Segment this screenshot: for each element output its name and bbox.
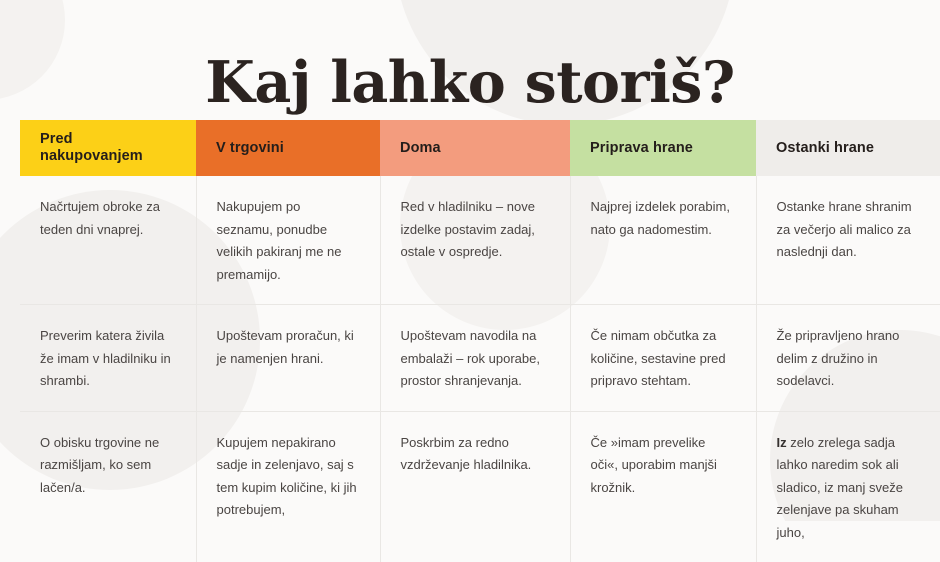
cell-r1-v-trgovini: Nakupujem po seznamu, ponudbe velikih pa… <box>196 176 380 305</box>
cell-r1-priprava-hrane: Najprej izdelek porabim, nato ga nadomes… <box>570 176 756 305</box>
cell-r3-doma: Poskrbim za redno vzdrževanje hladilnika… <box>380 411 570 562</box>
table-row: Preverim katera živila že imam v hladiln… <box>20 305 940 412</box>
column-header-priprava-hrane: Priprava hrane <box>570 120 756 176</box>
cell-r3-ostanki-hrane-lead: Iz <box>777 435 787 450</box>
page-title: Kaj lahko storiš? <box>0 40 940 126</box>
cell-r3-ostanki-hrane: Iz zelo zrelega sadja lahko naredim sok … <box>756 411 940 562</box>
matrix-header-row: Pred nakupovanjem V trgovini Doma Pripra… <box>20 120 940 176</box>
column-header-pred-nakupovanjem: Pred nakupovanjem <box>20 120 196 176</box>
column-header-ostanki-hrane: Ostanki hrane <box>756 120 940 176</box>
cell-r3-pred-nakupovanjem: O obisku trgovine ne razmišljam, ko sem … <box>20 411 196 562</box>
cell-r1-ostanki-hrane: Ostanke hrane shranim za večerjo ali mal… <box>756 176 940 305</box>
cell-r3-ostanki-hrane-text: zelo zrelega sadja lahko naredim sok ali… <box>777 435 903 540</box>
cell-r2-ostanki-hrane: Že pripravljeno hrano delim z družino in… <box>756 305 940 412</box>
food-waste-matrix: Pred nakupovanjem V trgovini Doma Pripra… <box>20 120 940 562</box>
column-header-doma: Doma <box>380 120 570 176</box>
cell-r2-priprava-hrane: Če nimam občutka za količine, sestavine … <box>570 305 756 412</box>
table-row: Načrtujem obroke za teden dni vnaprej. N… <box>20 176 940 305</box>
matrix-table: Pred nakupovanjem V trgovini Doma Pripra… <box>20 120 940 562</box>
cell-r3-v-trgovini: Kupujem nepakirano sadje in zelenjavo, s… <box>196 411 380 562</box>
cell-r3-priprava-hrane: Če »imam prevelike oči«, uporabim manjši… <box>570 411 756 562</box>
column-header-v-trgovini: V trgovini <box>196 120 380 176</box>
cell-r1-pred-nakupovanjem: Načrtujem obroke za teden dni vnaprej. <box>20 176 196 305</box>
table-row: O obisku trgovine ne razmišljam, ko sem … <box>20 411 940 562</box>
cell-r1-doma: Red v hladilniku – nove izdelke postavim… <box>380 176 570 305</box>
cell-r2-doma: Upoštevam navodila na embalaži – rok upo… <box>380 305 570 412</box>
cell-r2-v-trgovini: Upoštevam proračun, ki je namenjen hrani… <box>196 305 380 412</box>
cell-r2-pred-nakupovanjem: Preverim katera živila že imam v hladiln… <box>20 305 196 412</box>
